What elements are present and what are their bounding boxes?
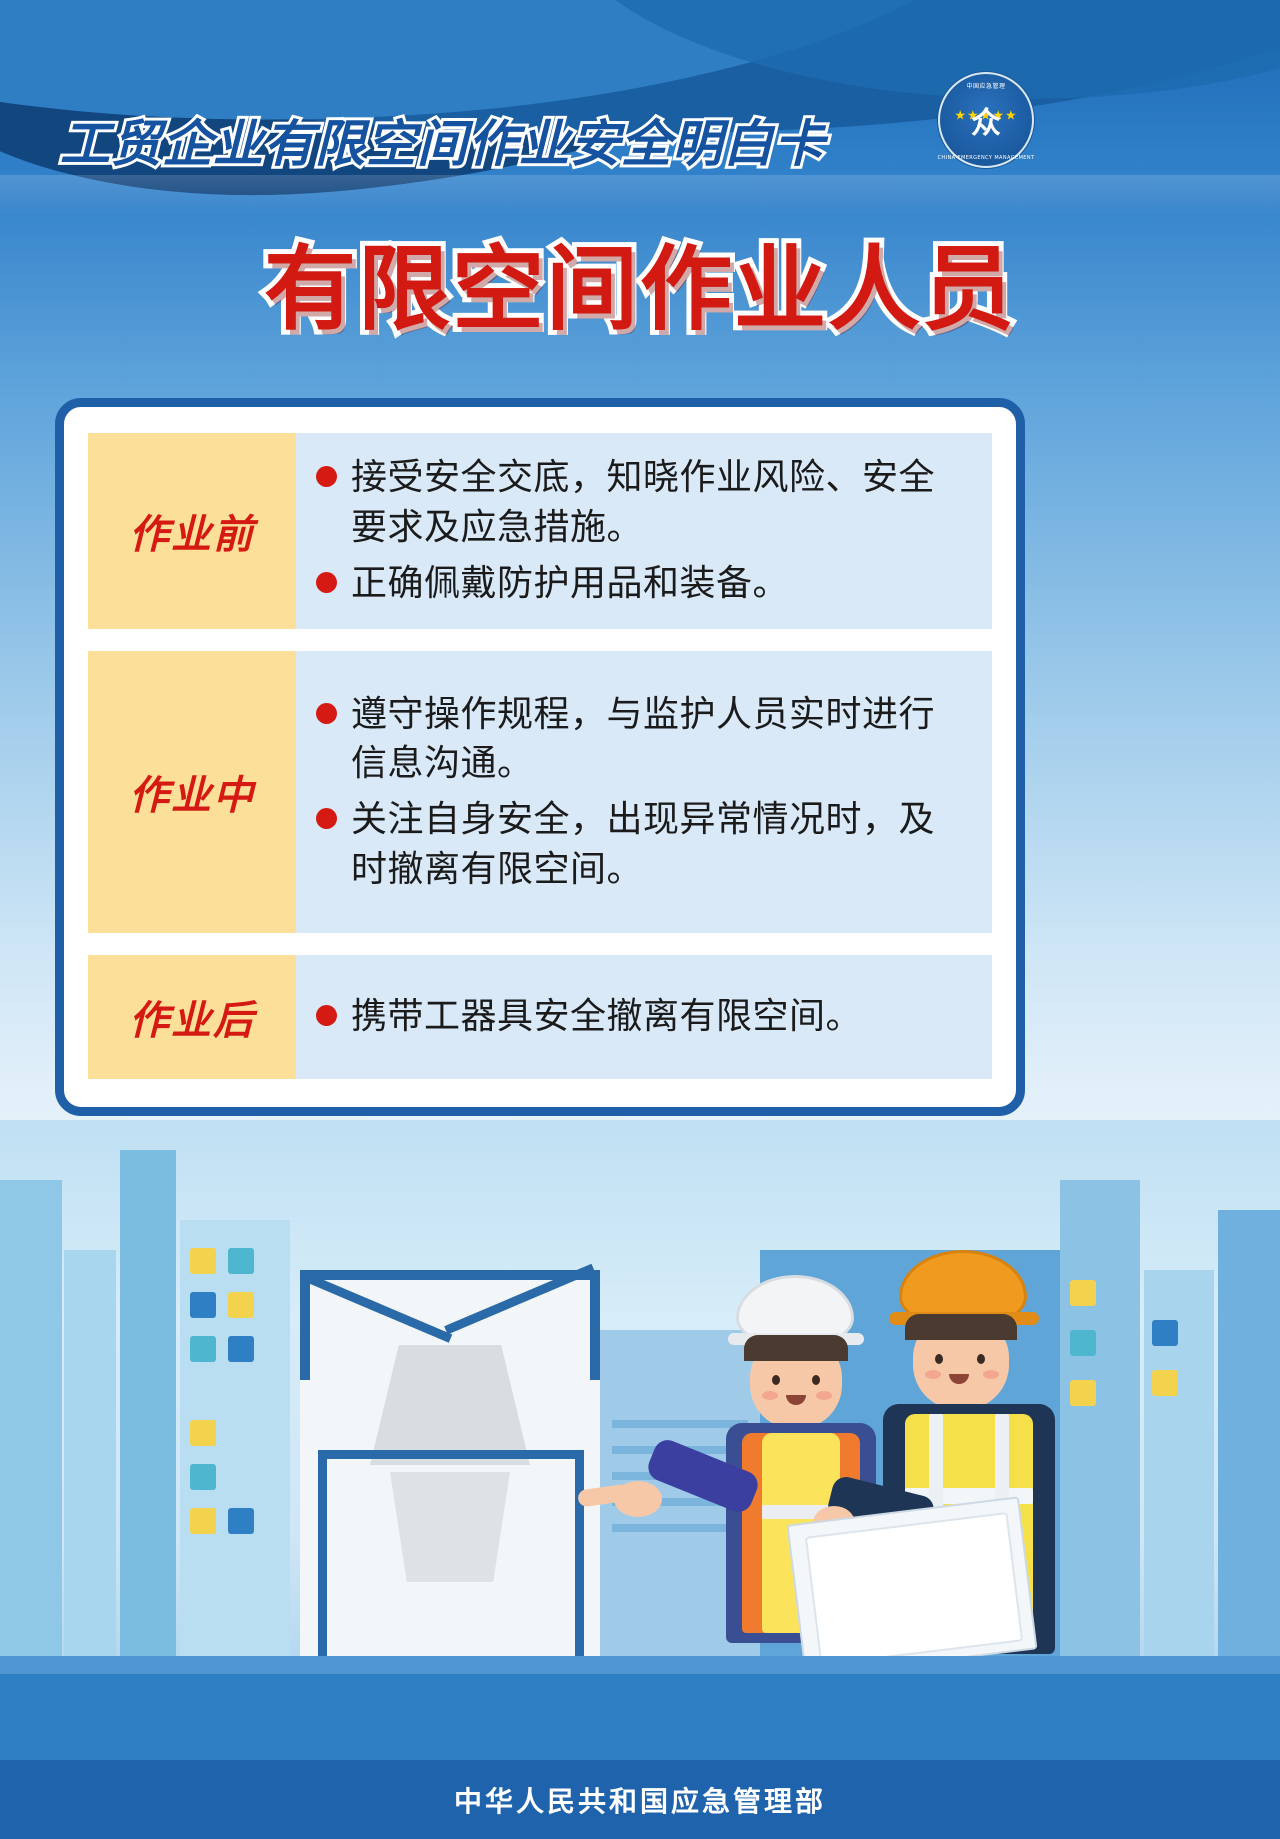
building [120,1150,176,1700]
section-row-during: 作业中 遵守操作规程，与监护人员实时进行信息沟通。 关注自身安全，出现异常情况时… [88,651,992,933]
window-tile [190,1336,216,1362]
content-card-inner: 作业前 接受安全交底，知晓作业风险、安全要求及应急措施。 正确佩戴防护用品和装备… [64,407,1016,1107]
poster-root: 中国应急管理 ★★★★★ 众 CHINA EMERGENCY MANAGEMEN… [0,0,1280,1839]
footer-bar: 中华人民共和国应急管理部 [0,1760,1280,1839]
section-label-after: 作业后 [88,955,296,1079]
footer-text: 中华人民共和国应急管理部 [454,1780,826,1820]
header-band [0,175,1280,215]
emblem-top-text: 中国应急管理 [966,81,1005,90]
window-tile [190,1420,216,1446]
blueprint-paper-sheet [805,1512,1023,1666]
bullet-dot-icon [316,1005,337,1026]
illustration [0,1120,1280,1760]
section-body-before: 接受安全交底，知晓作业风险、安全要求及应急措施。 正确佩戴防护用品和装备。 [296,433,992,629]
window-tile [190,1292,216,1318]
window-tile [228,1292,254,1318]
plant-rail [318,1450,583,1459]
ground-strip [0,1674,1280,1760]
bullet-text: 携带工器具安全撤离有限空间。 [351,992,862,1042]
window-tile [1152,1370,1178,1396]
section-label-during: 作业中 [88,651,296,933]
window-tile [228,1508,254,1534]
window-tile [228,1248,254,1274]
section-row-before: 作业前 接受安全交底，知晓作业风险、安全要求及应急措施。 正确佩戴防护用品和装备… [88,433,992,629]
window-tile [190,1464,216,1490]
plant-column [300,1270,310,1380]
hair [905,1314,1017,1340]
window-tile [1152,1320,1178,1346]
section-body-during: 遵守操作规程，与监护人员实时进行信息沟通。 关注自身安全，出现异常情况时，及时撤… [296,651,992,933]
window-tile [190,1248,216,1274]
content-card: 作业前 接受安全交底，知晓作业风险、安全要求及应急措施。 正确佩戴防护用品和装备… [55,398,1025,1116]
section-row-after: 作业后 携带工器具安全撤离有限空间。 [88,955,992,1079]
building [1218,1210,1280,1700]
cheek [925,1370,941,1379]
kicker-title: 工贸企业有限空间作业安全明白卡 [60,104,940,176]
ground-edge [0,1656,1280,1674]
window-tile [190,1508,216,1534]
list-item: 携带工器具安全撤离有限空间。 [316,992,970,1042]
bullet-dot-icon [316,808,337,829]
bullet-text: 关注自身安全，出现异常情况时，及时撤离有限空间。 [351,795,970,894]
building [0,1180,62,1700]
emblem-bottom-text: CHINA EMERGENCY MANAGEMENT [938,155,1035,161]
emblem-center-glyph: 众 [971,109,1001,139]
cheek [983,1370,999,1379]
eye [977,1354,985,1364]
cheek [816,1391,832,1400]
section-label-before: 作业前 [88,433,296,629]
bullet-dot-icon [316,703,337,724]
section-body-after: 携带工器具安全撤离有限空间。 [296,955,992,1079]
silo-cone [390,1472,510,1582]
list-item: 正确佩戴防护用品和装备。 [316,559,970,609]
building [64,1250,116,1700]
china-emergency-management-emblem: 中国应急管理 ★★★★★ 众 CHINA EMERGENCY MANAGEMEN… [938,72,1034,168]
bullet-dot-icon [316,466,337,487]
eye [772,1375,780,1385]
plant-column [590,1270,600,1380]
bullet-dot-icon [316,572,337,593]
list-item: 关注自身安全，出现异常情况时，及时撤离有限空间。 [316,795,970,894]
eye [812,1375,820,1385]
list-item: 接受安全交底，知晓作业风险、安全要求及应急措施。 [316,453,970,552]
bullet-text: 遵守操作规程，与监护人员实时进行信息沟通。 [351,690,970,789]
hair [744,1335,848,1361]
bullet-text: 接受安全交底，知晓作业风险、安全要求及应急措施。 [351,453,970,552]
window-tile [228,1336,254,1362]
list-item: 遵守操作规程，与监护人员实时进行信息沟通。 [316,690,970,789]
main-title: 有限空间作业人员 [0,215,1280,348]
cheek [762,1391,778,1400]
eye [935,1354,943,1364]
bullet-text: 正确佩戴防护用品和装备。 [351,559,789,609]
